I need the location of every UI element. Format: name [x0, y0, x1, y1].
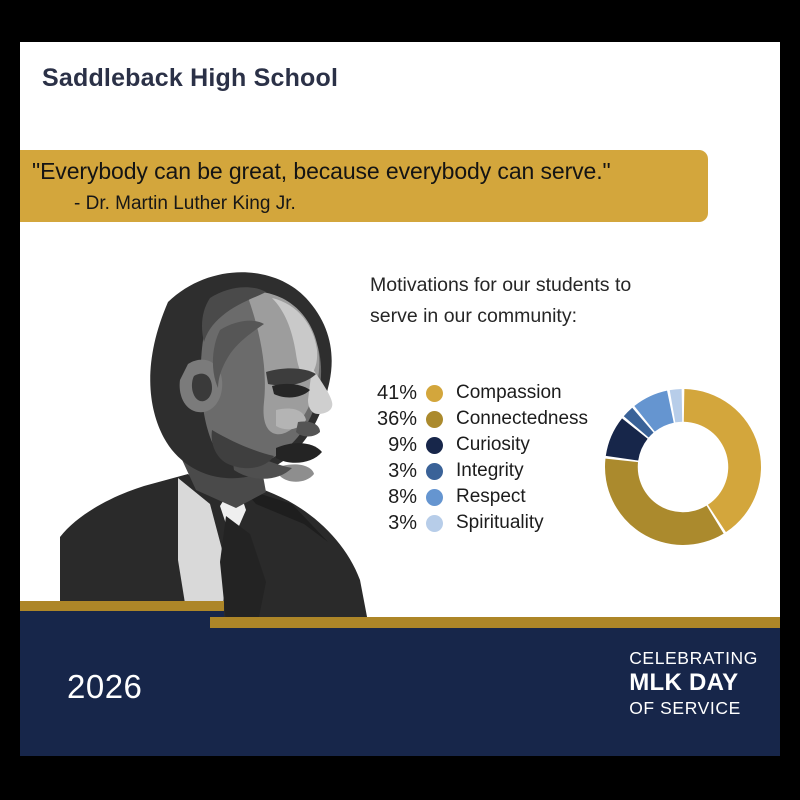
donut-chart: [598, 382, 768, 552]
page-title: Saddleback High School: [42, 64, 338, 93]
legend-percent: 3%: [370, 460, 426, 483]
legend-color-swatch-icon: [426, 385, 443, 402]
legend-label: Compassion: [443, 382, 562, 404]
mlk-day-of-service-logo: CELEBRATING MLK DAY OF SERVICE: [629, 647, 758, 719]
legend-item-respect: 8% Respect: [370, 484, 600, 510]
legend-percent: 9%: [370, 434, 426, 457]
legend-label: Respect: [443, 486, 526, 508]
legend-percent: 36%: [370, 408, 426, 431]
poster-card: Saddleback High School "Everybody can be…: [20, 42, 780, 756]
legend-percent: 41%: [370, 382, 426, 405]
logo-line-of-service: OF SERVICE: [629, 697, 758, 719]
legend-label: Integrity: [443, 460, 524, 482]
legend-item-compassion: 41% Compassion: [370, 380, 600, 406]
quote-attribution: - Dr. Martin Luther King Jr.: [74, 193, 296, 215]
year-label: 2026: [67, 668, 142, 706]
chart-heading: Motivations for our students to serve in…: [370, 270, 700, 332]
donut-slice-connectedness: [605, 459, 724, 545]
logo-line-mlk-day: MLK DAY: [629, 669, 758, 697]
legend-percent: 3%: [370, 512, 426, 535]
chart-heading-line2: serve in our community:: [370, 301, 700, 332]
quote-text: "Everybody can be great, because everybo…: [32, 158, 611, 185]
mlk-portrait-svg: [60, 242, 370, 622]
quote-banner: "Everybody can be great, because everybo…: [20, 150, 708, 222]
chart-heading-line1: Motivations for our students to: [370, 270, 700, 301]
legend-color-swatch-icon: [426, 411, 443, 428]
legend-label: Spirituality: [443, 512, 544, 534]
legend-label: Curiosity: [443, 434, 530, 456]
legend-item-curiosity: 9% Curiosity: [370, 432, 600, 458]
legend-color-swatch-icon: [426, 489, 443, 506]
footer-gold-bar: [210, 617, 780, 628]
legend-item-integrity: 3% Integrity: [370, 458, 600, 484]
legend-item-spirituality: 3% Spirituality: [370, 510, 600, 536]
mlk-portrait-illustration: [60, 242, 370, 622]
donut-chart-svg: [598, 382, 768, 552]
logo-line-celebrating: CELEBRATING: [629, 647, 758, 669]
footer-gold-bar-left: [20, 601, 224, 611]
legend-color-swatch-icon: [426, 437, 443, 454]
legend-color-swatch-icon: [426, 463, 443, 480]
legend-item-connectedness: 36% Connectedness: [370, 406, 600, 432]
legend-percent: 8%: [370, 486, 426, 509]
chart-legend: 41% Compassion 36% Connectedness 9% Curi…: [370, 380, 600, 536]
legend-label: Connectedness: [443, 408, 588, 430]
legend-color-swatch-icon: [426, 515, 443, 532]
